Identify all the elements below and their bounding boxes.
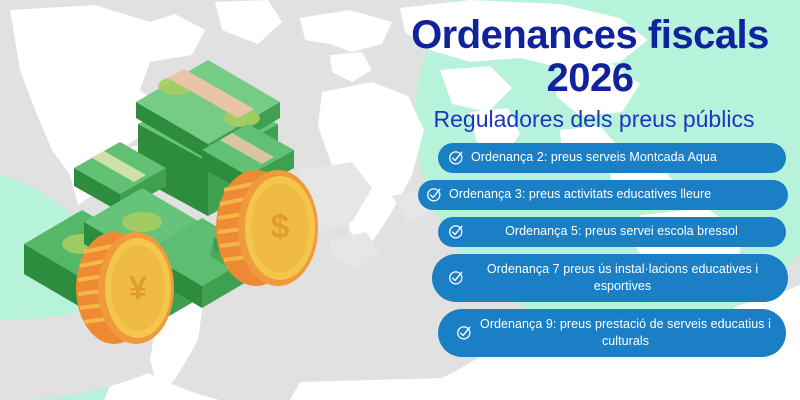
poster-canvas: $ ¥ Ordenances f xyxy=(0,0,800,400)
list-item-label: Ordenança 5: preus servei escola bressol xyxy=(471,223,772,240)
list-item[interactable]: Ordenança 5: preus servei escola bressol xyxy=(438,217,786,247)
list-item-label: Ordenança 2: preus serveis Montcada Aqua xyxy=(471,149,772,166)
check-circle-icon xyxy=(448,149,465,166)
list-item[interactable]: Ordenança 9: preus prestació de serveis … xyxy=(438,309,786,357)
check-circle-icon xyxy=(448,269,465,286)
check-circle-icon xyxy=(426,186,443,203)
page-subtitle: Reguladores dels preus públics xyxy=(388,106,800,132)
check-circle-icon xyxy=(456,324,473,341)
list-item-label: Ordenança 3: preus activitats educatives… xyxy=(449,186,774,203)
content-column: Ordenances fiscals 2026 Reguladores dels… xyxy=(388,0,800,400)
list-item[interactable]: Ordenança 2: preus serveis Montcada Aqua xyxy=(438,143,786,173)
svg-text:$: $ xyxy=(271,208,290,246)
money-illustration: $ ¥ xyxy=(18,38,388,368)
list-item-label: Ordenança 7 preus ús instal·lacions educ… xyxy=(471,261,774,295)
list-item[interactable]: Ordenança 3: preus activitats educatives… xyxy=(418,180,788,210)
title-line-1: Ordenances fiscals xyxy=(411,13,769,57)
gold-coin-yen: ¥ xyxy=(76,232,174,344)
ordinance-list: Ordenança 2: preus serveis Montcada Aqua… xyxy=(388,143,800,357)
gold-coin-dollar: $ xyxy=(216,170,318,286)
check-circle-icon xyxy=(448,223,465,240)
list-item-label: Ordenança 9: preus prestació de serveis … xyxy=(479,316,772,350)
svg-text:¥: ¥ xyxy=(129,270,147,306)
title-year: 2026 xyxy=(394,57,786,100)
list-item[interactable]: Ordenança 7 preus ús instal·lacions educ… xyxy=(432,254,788,302)
page-title: Ordenances fiscals 2026 xyxy=(388,0,800,100)
